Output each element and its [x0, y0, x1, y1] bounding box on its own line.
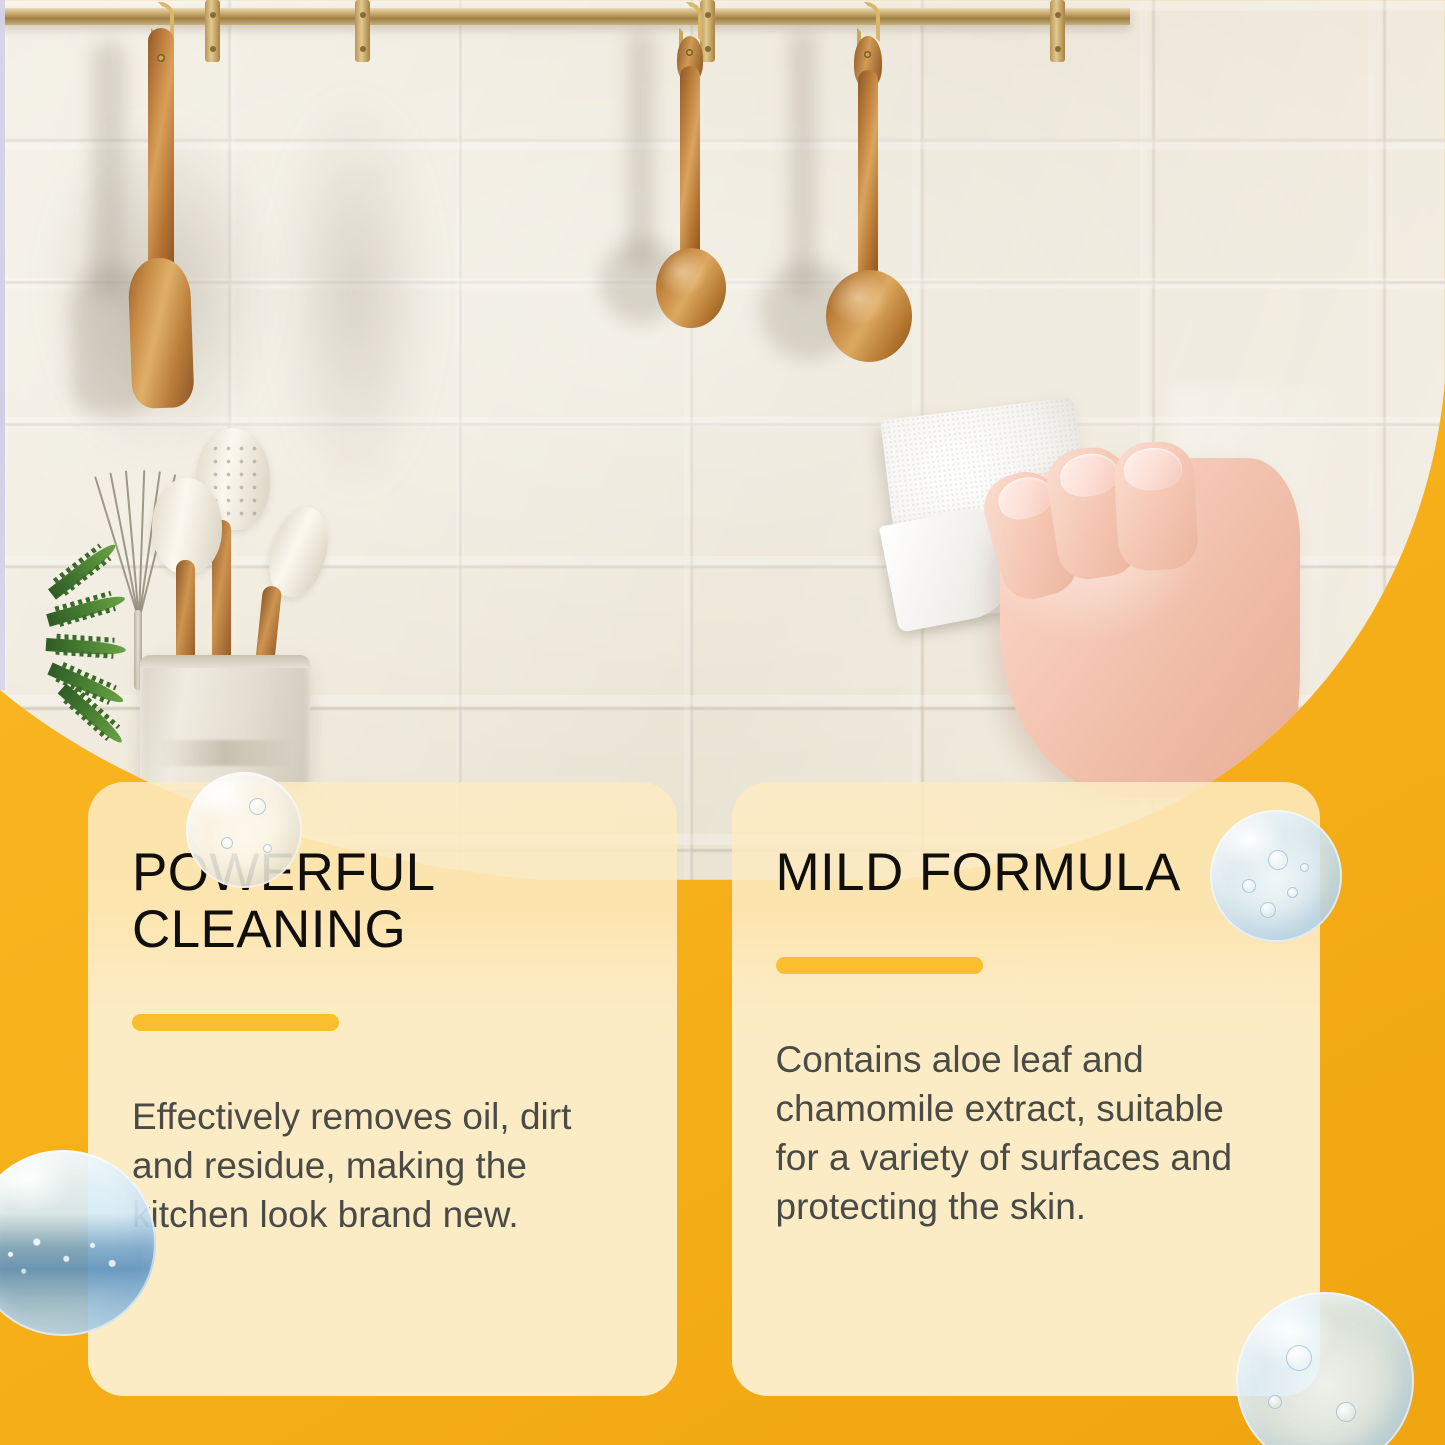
crock-label	[158, 740, 292, 766]
card-body: Effectively removes oil, dirt and residu…	[132, 1093, 602, 1239]
feature-card-mild-formula[interactable]: MILD FORMULA Contains aloe leaf and cham…	[732, 782, 1321, 1396]
card-title: POWERFUL CLEANING	[132, 844, 633, 958]
hero-photo	[0, 0, 1445, 880]
product-feature-infographic: POWERFUL CLEANING Effectively removes oi…	[0, 0, 1445, 1445]
rail-bracket	[205, 0, 220, 62]
accent-bar	[132, 1014, 339, 1031]
accent-bar	[776, 957, 983, 974]
card-title: MILD FORMULA	[776, 844, 1277, 901]
hand-wiping-with-wipe	[880, 396, 1310, 816]
rail-bracket	[355, 0, 370, 62]
wall-shadow	[250, 60, 460, 580]
left-edge-strip	[0, 0, 5, 690]
feature-card-powerful-cleaning[interactable]: POWERFUL CLEANING Effectively removes oi…	[88, 782, 677, 1396]
utensil-shadow	[790, 30, 816, 298]
utensil-shadow	[92, 40, 126, 300]
utensil-crock	[140, 655, 310, 790]
rail-bracket	[1050, 0, 1065, 62]
feature-cards: POWERFUL CLEANING Effectively removes oi…	[88, 782, 1320, 1396]
card-body: Contains aloe leaf and chamomile extract…	[776, 1036, 1246, 1231]
utensil-shadow	[628, 30, 654, 270]
